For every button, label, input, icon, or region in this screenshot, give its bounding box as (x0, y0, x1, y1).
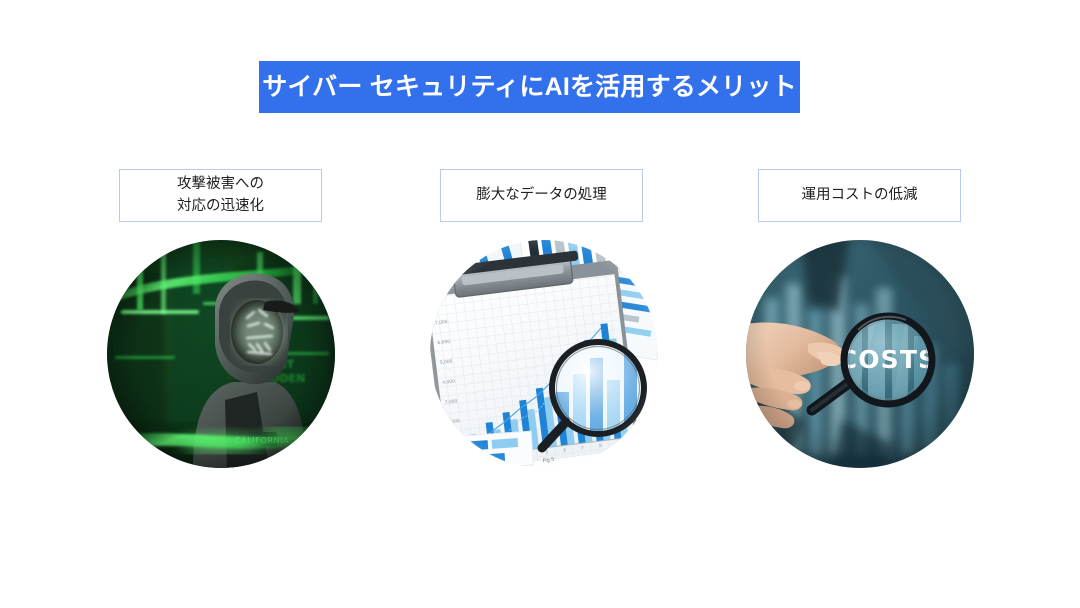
svg-text:1,000: 1,000 (449, 438, 462, 446)
hacker-hooded-figure-photo: DONT HIDDEN CALIFORNIA (107, 240, 335, 468)
page-title: サイバー セキュリティにAIを活用するメリット (262, 75, 797, 100)
svg-text:1: 1 (474, 458, 478, 463)
benefit-label-box-2: 膨大なデータの処理 (440, 169, 643, 222)
benefit-label-box-3: 運用コストの低減 (758, 169, 961, 222)
benefit-label-text-2: 膨大なデータの処理 (476, 185, 607, 206)
benefit-label-text-1: 攻撃被害への 対応の迅速化 (177, 174, 264, 216)
business-charts-clipboard-photo: 7,000 6,000 5,000 4,000 3,000 2,000 1,00… (430, 240, 658, 468)
benefit-label-box-1: 攻撃被害への 対応の迅速化 (119, 169, 322, 222)
svg-text:9: 9 (617, 441, 621, 446)
benefit-label-text-3: 運用コストの低減 (802, 185, 918, 206)
costs-magnifier-photo: COSTS (746, 240, 974, 468)
svg-text:12: 12 (626, 439, 632, 445)
slide-title-banner: サイバー セキュリティにAIを活用するメリット (259, 61, 800, 113)
